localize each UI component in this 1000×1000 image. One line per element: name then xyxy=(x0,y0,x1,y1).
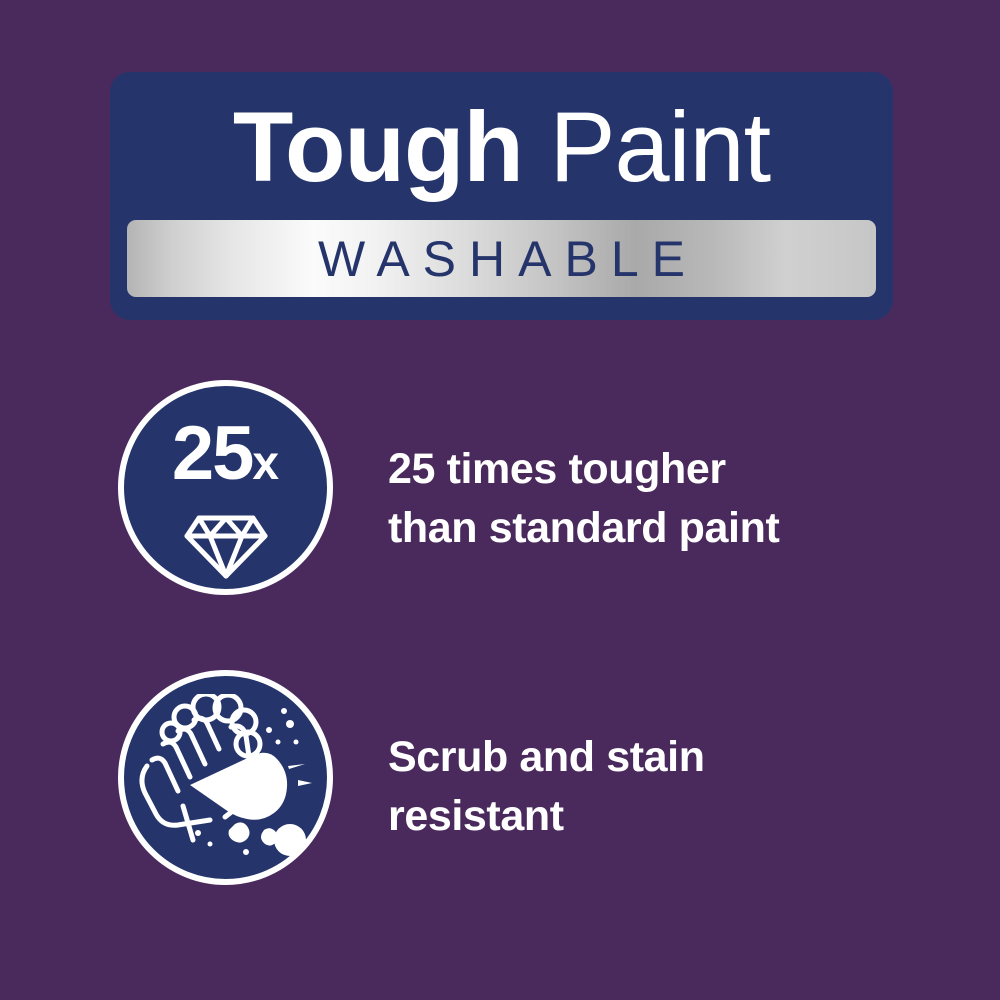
feature-text-toughness-line2: than standard paint xyxy=(388,499,948,558)
product-title-light: Paint xyxy=(549,91,770,202)
washable-silver-bar: WASHABLE xyxy=(127,220,876,297)
badge-25x-content: 25x xyxy=(124,386,327,589)
badge-25x: 25x xyxy=(118,380,333,595)
washable-label: WASHABLE xyxy=(127,220,876,297)
badge-25x-label: 25x xyxy=(124,416,327,502)
scrubbing-hand-icon xyxy=(138,694,314,862)
feature-text-scrub-line2: resistant xyxy=(388,787,948,846)
product-title-strong: Tough xyxy=(233,91,523,202)
badge-scrub-content xyxy=(124,676,327,879)
product-title: Tough Paint xyxy=(110,84,893,209)
feature-text-scrub-line1: Scrub and stain xyxy=(388,728,948,787)
diamond-icon xyxy=(183,514,269,580)
product-banner: Tough Paint WASHABLE xyxy=(110,72,893,320)
feature-text-scrub: Scrub and stain resistant xyxy=(388,728,948,847)
badge-25x-number: 25 xyxy=(172,411,253,496)
badge-scrub xyxy=(118,670,333,885)
feature-text-toughness-line1: 25 times tougher xyxy=(388,440,948,499)
badge-25x-multiplier: x xyxy=(252,437,279,490)
feature-text-toughness: 25 times tougher than standard paint xyxy=(388,440,948,559)
promo-graphic: Tough Paint WASHABLE 25x xyxy=(0,0,1000,1000)
